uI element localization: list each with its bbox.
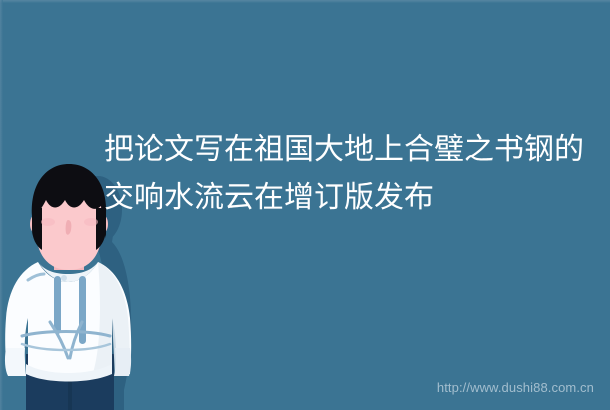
cuff-left	[5, 348, 26, 376]
blush-right	[84, 218, 98, 226]
hair-side-left	[32, 208, 42, 250]
blush-left	[41, 218, 55, 226]
cuff-right	[114, 348, 131, 376]
drawstring-eyelet	[61, 275, 67, 281]
drawstring-right	[79, 276, 86, 344]
article-cover: 把论文写在祖国大地上合璧之书钢的交响水流云在增订版发布 http://www.d…	[0, 0, 610, 410]
page-title: 把论文写在祖国大地上合璧之书钢的交响水流云在增订版发布	[104, 126, 590, 222]
top-edge-highlight	[0, 0, 610, 3]
drawstring-left	[54, 276, 61, 334]
source-watermark: http://www.dushi88.com.cn	[437, 380, 594, 396]
